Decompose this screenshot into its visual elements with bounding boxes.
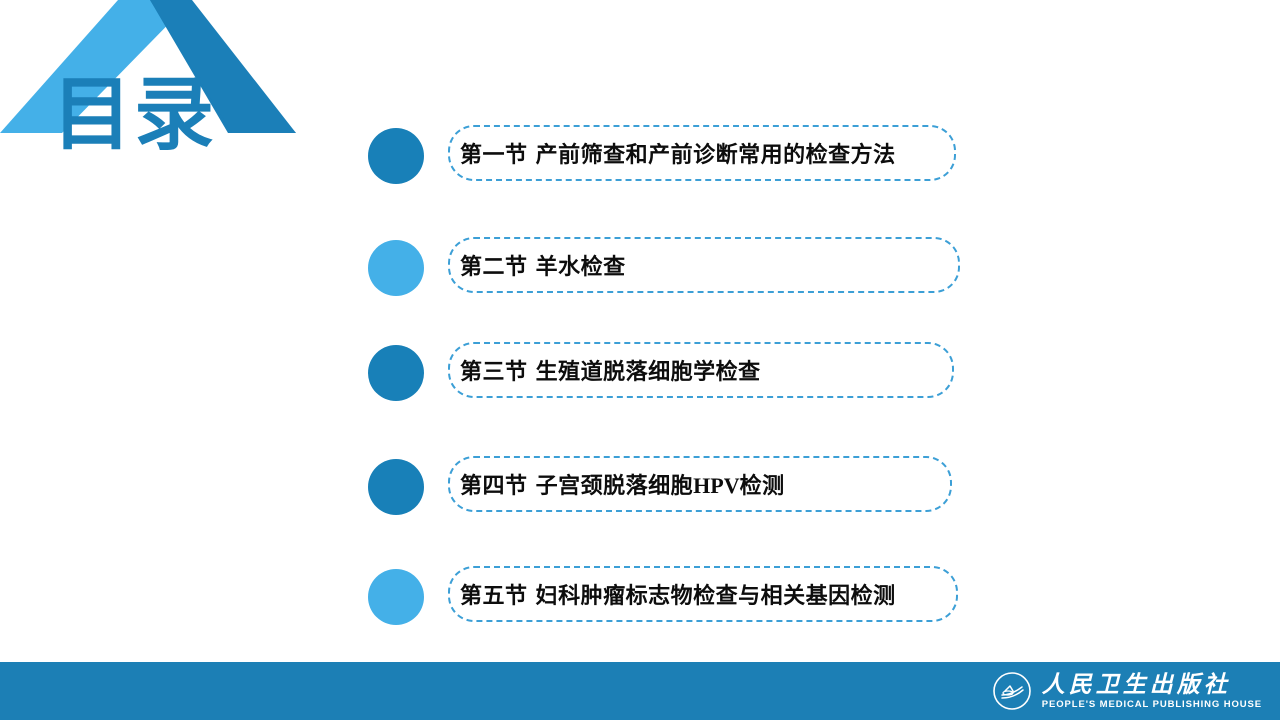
toc-row-2[interactable]: 第二节 羊水检查 [368,237,968,299]
toc-box-2[interactable]: 第二节 羊水检查 [448,237,960,293]
toc-item-label-1: 第一节 产前筛查和产前诊断常用的检查方法 [460,137,896,169]
toc-row-3[interactable]: 第三节 生殖道脱落细胞学检查 [368,342,968,404]
toc-item-label-3: 第三节 生殖道脱落细胞学检查 [460,354,761,386]
toc-item-label-4-cn: 第四节 子宫颈脱落细胞 [460,474,693,499]
toc-item-label-4: 第四节 子宫颈脱落细胞HPV检测 [460,468,785,500]
bullet-dot-icon [368,569,424,625]
toc-item-label-2: 第二节 羊水检查 [460,249,626,281]
slide-root: 目录 第一节 产前筛查和产前诊断常用的检查方法 第二节 羊水检查 第三节 生殖道… [0,0,1280,720]
toc-box-4[interactable]: 第四节 子宫颈脱落细胞HPV检测 [448,456,952,512]
bullet-dot-icon [368,345,424,401]
footer-bar: 人民卫生出版社 PEOPLE'S MEDICAL PUBLISHING HOUS… [0,662,1280,720]
toc-row-1[interactable]: 第一节 产前筛查和产前诊断常用的检查方法 [368,125,968,187]
toc-item-label-5: 第五节 妇科肿瘤标志物检查与相关基因检测 [460,578,896,610]
publisher-emblem-icon [992,671,1032,711]
toc-item-label-4-tail: 检测 [740,474,785,499]
toc-box-5[interactable]: 第五节 妇科肿瘤标志物检查与相关基因检测 [448,566,958,622]
bullet-dot-icon [368,240,424,296]
toc-row-4[interactable]: 第四节 子宫颈脱落细胞HPV检测 [368,456,968,518]
bullet-dot-icon [368,459,424,515]
toc-box-3[interactable]: 第三节 生殖道脱落细胞学检查 [448,342,954,398]
publisher-text: 人民卫生出版社 PEOPLE'S MEDICAL PUBLISHING HOUS… [1042,673,1262,710]
toc-row-5[interactable]: 第五节 妇科肿瘤标志物检查与相关基因检测 [368,566,968,628]
bullet-dot-icon [368,128,424,184]
toc-item-label-4-latin: HPV [693,473,739,498]
toc-list: 第一节 产前筛查和产前诊断常用的检查方法 第二节 羊水检查 第三节 生殖道脱落细… [0,0,1280,660]
publisher-logo: 人民卫生出版社 PEOPLE'S MEDICAL PUBLISHING HOUS… [992,670,1262,712]
toc-box-1[interactable]: 第一节 产前筛查和产前诊断常用的检查方法 [448,125,956,181]
publisher-name-cn: 人民卫生出版社 [1042,673,1262,696]
publisher-name-en: PEOPLE'S MEDICAL PUBLISHING HOUSE [1042,700,1262,710]
